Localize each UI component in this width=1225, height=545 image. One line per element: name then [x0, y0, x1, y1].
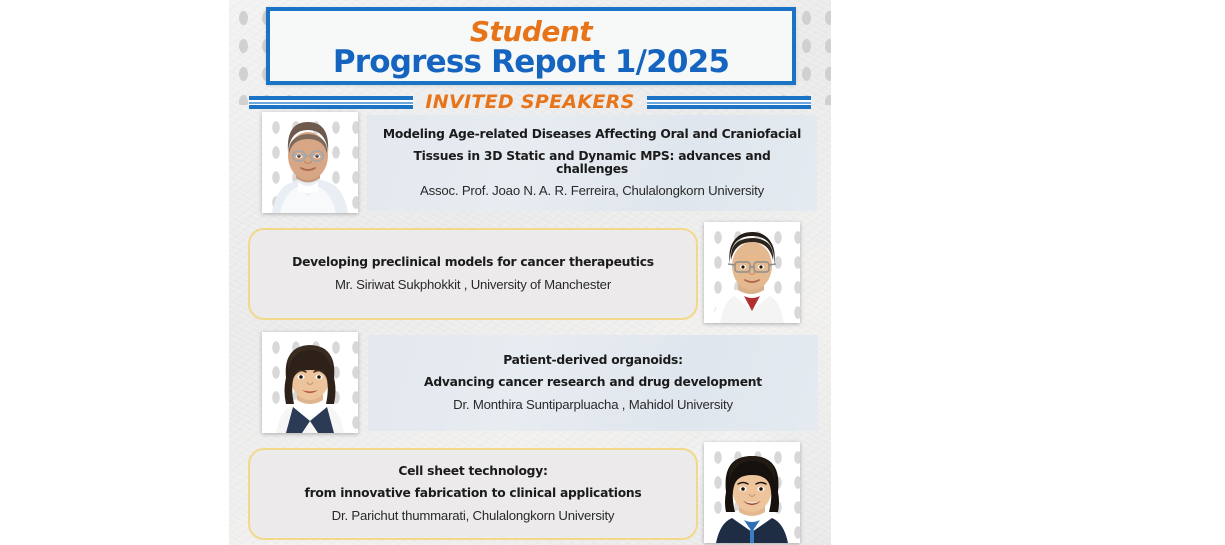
divider-rule-right: [647, 96, 811, 109]
talk-title-line1: Modeling Age-related Diseases Affecting …: [377, 128, 807, 141]
speaker-name: Dr. Monthira Suntiparpluacha , Mahidol U…: [378, 398, 808, 412]
talk-title-line1: Patient-derived organoids:: [378, 354, 808, 367]
portrait-illustration: [262, 332, 358, 433]
title-line-student: Student: [270, 18, 792, 46]
speaker-name: Mr. Siriwat Sukphokkit , University of M…: [260, 278, 686, 292]
title-box: Student Progress Report 1/2025: [266, 7, 796, 85]
speaker-row: Patient-derived organoids: Advancing can…: [229, 332, 831, 438]
portrait-illustration: [704, 442, 800, 543]
speaker-photo: [704, 442, 800, 543]
speaker-row: Cell sheet technology: from innovative f…: [229, 442, 831, 545]
poster: Student Progress Report 1/2025 INVITED S…: [229, 0, 831, 545]
speaker-text-panel: Patient-derived organoids: Advancing can…: [368, 335, 818, 431]
speaker-photo: [262, 332, 358, 433]
speaker-name: Assoc. Prof. Joao N. A. R. Ferreira, Chu…: [377, 184, 807, 198]
invited-speakers-bar: INVITED SPEAKERS: [249, 88, 811, 116]
screenshot-canvas: Student Progress Report 1/2025 INVITED S…: [0, 0, 1225, 545]
talk-title-line2: from innovative fabrication to clinical …: [260, 487, 686, 500]
speaker-row: Modeling Age-related Diseases Affecting …: [229, 112, 831, 218]
speaker-text-panel: Cell sheet technology: from innovative f…: [248, 448, 698, 540]
speaker-row: Developing preclinical models for cancer…: [229, 222, 831, 328]
portrait-illustration: [262, 112, 358, 213]
talk-title-line2: Tissues in 3D Static and Dynamic MPS: ad…: [377, 150, 807, 176]
invited-speakers-label: INVITED SPEAKERS: [413, 91, 646, 113]
title-line-progress-report: Progress Report 1/2025: [270, 47, 792, 78]
divider-rule-left: [249, 96, 413, 109]
portrait-illustration: [704, 222, 800, 323]
speaker-photo: [704, 222, 800, 323]
talk-title-line1: Developing preclinical models for cancer…: [260, 256, 686, 269]
speaker-photo: [262, 112, 358, 213]
speaker-name: Dr. Parichut thummarati, Chulalongkorn U…: [260, 509, 686, 523]
speaker-text-panel: Developing preclinical models for cancer…: [248, 228, 698, 320]
speaker-text-panel: Modeling Age-related Diseases Affecting …: [367, 115, 817, 211]
talk-title-line2: Advancing cancer research and drug devel…: [378, 376, 808, 389]
talk-title-line1: Cell sheet technology:: [260, 465, 686, 478]
